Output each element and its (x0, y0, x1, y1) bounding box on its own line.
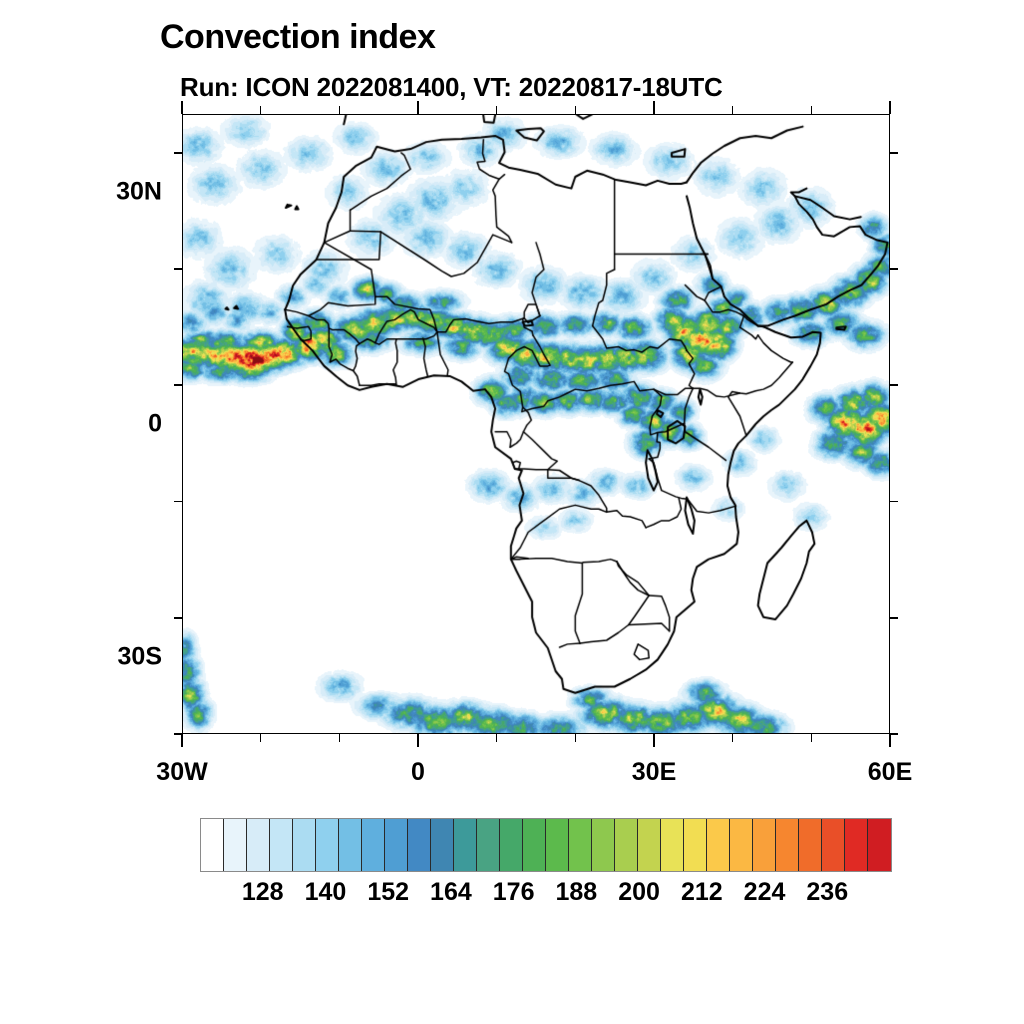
colorbar-label-236: 236 (806, 878, 848, 907)
y-tick-right--25 (890, 617, 898, 619)
y-tick--10 (174, 501, 182, 503)
colorbar-label-176: 176 (493, 878, 535, 907)
colorbar-cell-19 (638, 819, 661, 871)
y-tick-right-20 (890, 268, 898, 270)
x-tick-40 (732, 734, 734, 742)
y-tick-right-5 (890, 384, 898, 386)
x-tick-top-40 (732, 106, 734, 114)
x-tick-60 (889, 734, 891, 747)
colorbar-cell-16 (569, 819, 592, 871)
x-tick-top-50 (811, 106, 813, 114)
colorbar-tick-labels: 128140152164176188200212224236 (0, 878, 1024, 918)
colorbar-cell-3 (270, 819, 293, 871)
colorbar-label-164: 164 (430, 878, 472, 907)
y-axis-label-30N: 30N (107, 177, 162, 206)
colorbar-cell-14 (523, 819, 546, 871)
x-tick--30 (181, 734, 183, 747)
colorbar-cell-26 (799, 819, 822, 871)
colorbar-cell-10 (431, 819, 454, 871)
y-tick-20 (174, 268, 182, 270)
map-plot-area (182, 114, 890, 734)
colorbar-cell-1 (224, 819, 247, 871)
colorbar-cell-0 (201, 819, 224, 871)
colorbar-cell-27 (822, 819, 845, 871)
y-tick--25 (174, 617, 182, 619)
colorbar-cell-9 (408, 819, 431, 871)
colorbar-cell-20 (661, 819, 684, 871)
x-tick-top--30 (181, 101, 183, 114)
colorbar-label-140: 140 (305, 878, 347, 907)
x-tick-top-20 (575, 106, 577, 114)
x-tick--20 (260, 734, 262, 742)
x-tick-top-60 (889, 101, 891, 114)
colorbar-cell-25 (776, 819, 799, 871)
y-axis-label-0: 0 (107, 410, 162, 439)
colorbar-cell-7 (362, 819, 385, 871)
weather-map-figure: Convection index Run: ICON 2022081400, V… (0, 0, 1024, 1024)
colorbar-cell-6 (339, 819, 362, 871)
x-axis-label-30E: 30E (632, 758, 676, 787)
colorbar (200, 818, 892, 872)
colorbar-cell-12 (477, 819, 500, 871)
y-tick--40 (174, 733, 182, 735)
x-axis-label-30W: 30W (156, 758, 207, 787)
x-tick-top-0 (417, 101, 419, 114)
x-tick-top-10 (496, 106, 498, 114)
colorbar-cell-2 (247, 819, 270, 871)
y-tick-right--40 (890, 733, 898, 735)
x-tick-top--20 (260, 106, 262, 114)
x-tick-top-30 (653, 101, 655, 114)
x-tick-50 (811, 734, 813, 742)
convection-index-raster (183, 115, 889, 733)
colorbar-cell-11 (454, 819, 477, 871)
colorbar-cell-5 (316, 819, 339, 871)
subtitle-run-validtime: Run: ICON 2022081400, VT: 20220817-18UTC (180, 72, 723, 103)
page-title: Convection index (160, 18, 435, 57)
colorbar-cell-23 (730, 819, 753, 871)
colorbar-cell-15 (546, 819, 569, 871)
colorbar-cell-28 (845, 819, 868, 871)
x-tick-10 (496, 734, 498, 742)
x-tick--10 (339, 734, 341, 742)
colorbar-cell-21 (684, 819, 707, 871)
colorbar-cell-24 (753, 819, 776, 871)
colorbar-cell-8 (385, 819, 408, 871)
y-tick-right-35 (890, 152, 898, 154)
y-tick-right--10 (890, 501, 898, 503)
colorbar-cell-22 (707, 819, 730, 871)
colorbar-label-152: 152 (367, 878, 409, 907)
colorbar-label-128: 128 (242, 878, 284, 907)
x-tick-0 (417, 734, 419, 747)
colorbar-label-224: 224 (744, 878, 786, 907)
x-tick-30 (653, 734, 655, 747)
colorbar-label-212: 212 (681, 878, 723, 907)
colorbar-cell-17 (592, 819, 615, 871)
x-tick-20 (575, 734, 577, 742)
y-tick-35 (174, 152, 182, 154)
colorbar-label-200: 200 (618, 878, 660, 907)
x-axis-label-0: 0 (411, 758, 425, 787)
colorbar-cell-4 (293, 819, 316, 871)
y-tick-5 (174, 384, 182, 386)
colorbar-cell-29 (868, 819, 891, 871)
colorbar-label-188: 188 (556, 878, 598, 907)
x-tick-top--10 (339, 106, 341, 114)
colorbar-cell-13 (500, 819, 523, 871)
x-axis-label-60E: 60E (868, 758, 912, 787)
colorbar-cell-18 (615, 819, 638, 871)
y-axis-label-30S: 30S (107, 642, 162, 671)
